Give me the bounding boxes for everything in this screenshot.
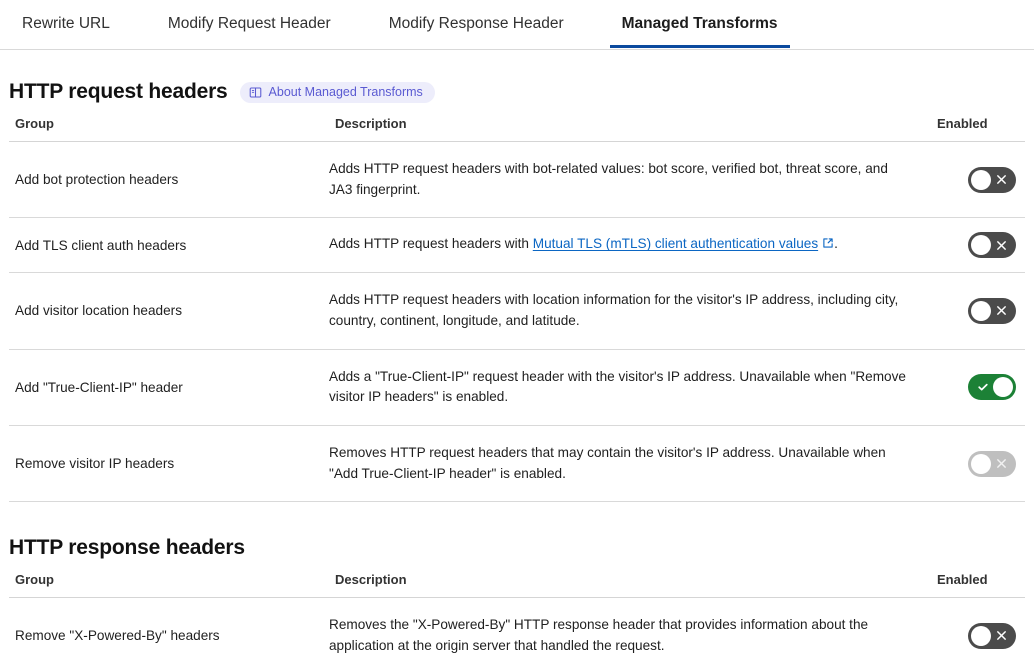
table-row: Add visitor location headers Adds HTTP r… (9, 273, 1025, 349)
column-header-enabled: Enabled (937, 116, 1025, 142)
row-description: Adds HTTP request headers with Mutual TL… (329, 218, 937, 273)
tab-rewrite-url[interactable]: Rewrite URL (22, 0, 110, 47)
close-icon (995, 232, 1008, 258)
row-enabled-cell (937, 273, 1025, 349)
table-row: Remove visitor IP headers Removes HTTP r… (9, 425, 1025, 501)
row-group-label: Add visitor location headers (9, 273, 329, 349)
row-enabled-cell (937, 142, 1025, 218)
toggle-knob (971, 301, 991, 321)
description-text-before: Adds HTTP request headers with (329, 236, 533, 251)
table-row: Remove "X-Powered-By" headers Removes th… (9, 598, 1025, 653)
row-description: Removes the "X-Powered-By" HTTP response… (329, 598, 937, 653)
column-header-group: Group (9, 116, 329, 142)
request-headers-table: Group Description Enabled Add bot protec… (9, 116, 1025, 502)
response-section-title: HTTP response headers (9, 536, 245, 560)
column-header-group: Group (9, 572, 329, 598)
row-description: Adds HTTP request headers with location … (329, 273, 937, 349)
close-icon (995, 623, 1008, 649)
table-header-row: Group Description Enabled (9, 116, 1025, 142)
external-link-icon[interactable] (822, 235, 834, 256)
row-enabled-cell (937, 598, 1025, 653)
table-row: Add TLS client auth headers Adds HTTP re… (9, 218, 1025, 273)
table-row: Add "True-Client-IP" header Adds a "True… (9, 349, 1025, 425)
close-icon (995, 298, 1008, 324)
toggle-add-visitor-location-headers[interactable] (968, 298, 1016, 324)
toggle-add-true-client-ip-header[interactable] (968, 374, 1016, 400)
toggle-add-tls-client-auth-headers[interactable] (968, 232, 1016, 258)
tab-bar: Rewrite URL Modify Request Header Modify… (0, 0, 1034, 50)
row-group-label: Remove "X-Powered-By" headers (9, 598, 329, 653)
row-group-label: Add "True-Client-IP" header (9, 349, 329, 425)
row-description: Adds a "True-Client-IP" request header w… (329, 349, 937, 425)
section-http-response-headers: HTTP response headers Group Description … (9, 536, 1025, 653)
toggle-remove-x-powered-by-headers[interactable] (968, 623, 1016, 649)
table-row: Add bot protection headers Adds HTTP req… (9, 142, 1025, 218)
toggle-knob (971, 235, 991, 255)
column-header-enabled: Enabled (937, 572, 1025, 598)
toggle-add-bot-protection-headers[interactable] (968, 167, 1016, 193)
check-icon (976, 374, 989, 400)
close-icon (995, 451, 1008, 477)
mutual-tls-link[interactable]: Mutual TLS (mTLS) client authentication … (533, 236, 818, 251)
response-section-header: HTTP response headers (9, 536, 1025, 560)
row-description: Adds HTTP request headers with bot-relat… (329, 142, 937, 218)
toggle-remove-visitor-ip-headers (968, 451, 1016, 477)
row-group-label: Add TLS client auth headers (9, 218, 329, 273)
row-group-label: Remove visitor IP headers (9, 425, 329, 501)
page-content: HTTP request headers About Managed Trans… (0, 80, 1034, 653)
tab-managed-transforms[interactable]: Managed Transforms (622, 0, 778, 47)
column-header-description: Description (329, 572, 937, 598)
request-section-header: HTTP request headers About Managed Trans… (9, 80, 1025, 104)
table-header-row: Group Description Enabled (9, 572, 1025, 598)
toggle-knob (971, 454, 991, 474)
response-headers-table: Group Description Enabled Remove "X-Powe… (9, 572, 1025, 653)
toggle-knob (993, 377, 1013, 397)
row-enabled-cell (937, 425, 1025, 501)
row-description: Removes HTTP request headers that may co… (329, 425, 937, 501)
description-text-after: . (834, 236, 838, 251)
about-managed-transforms-badge[interactable]: About Managed Transforms (240, 82, 435, 103)
column-header-description: Description (329, 116, 937, 142)
row-enabled-cell (937, 349, 1025, 425)
about-badge-label: About Managed Transforms (269, 86, 423, 99)
toggle-knob (971, 626, 991, 646)
request-section-title: HTTP request headers (9, 80, 228, 104)
row-enabled-cell (937, 218, 1025, 273)
toggle-knob (971, 170, 991, 190)
tab-modify-request-header[interactable]: Modify Request Header (168, 0, 331, 47)
tab-modify-response-header[interactable]: Modify Response Header (389, 0, 564, 47)
close-icon (995, 167, 1008, 193)
section-http-request-headers: HTTP request headers About Managed Trans… (9, 80, 1025, 502)
book-icon (249, 86, 262, 99)
row-group-label: Add bot protection headers (9, 142, 329, 218)
